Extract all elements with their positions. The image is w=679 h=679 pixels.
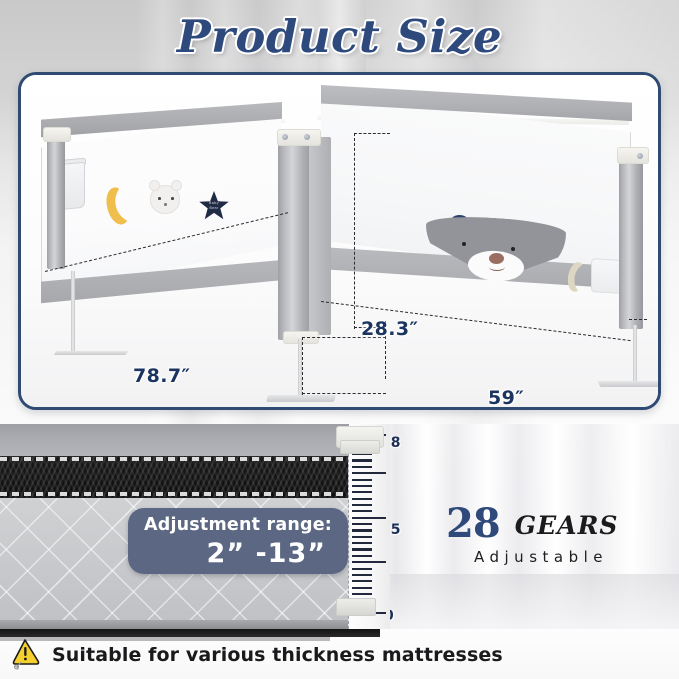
- ruler-tick: [352, 459, 372, 461]
- mattress-bottom-edge: [0, 620, 352, 629]
- support-leg-foot-right: [598, 381, 661, 387]
- dimension-line-height: [354, 133, 355, 329]
- bear-sticker-ear-right-icon: [171, 180, 182, 191]
- mattress-stitch-top: [0, 457, 352, 461]
- star-sticker-text: Baby Bear: [204, 201, 224, 211]
- ruler-tick: [352, 561, 386, 563]
- support-leg-foot-left: [54, 351, 129, 355]
- screw-icon: [282, 134, 288, 140]
- bed-rail-illustration: Baby Bear: [21, 75, 658, 407]
- dimension-tick-width-right: [629, 319, 647, 320]
- dimension-tick-height-top: [354, 133, 390, 134]
- ruler-tick: [352, 517, 386, 519]
- ruler-tick: [352, 548, 372, 550]
- mattress-top-surface: [0, 424, 352, 456]
- ruler-tick: [352, 504, 372, 506]
- dimension-label-width: 59″: [488, 387, 524, 409]
- ruler-tick: [352, 491, 372, 493]
- screw-icon: [637, 153, 643, 159]
- bracket-left-top: [43, 127, 71, 142]
- support-leg-right: [633, 325, 637, 383]
- ruler-tick: [352, 587, 372, 589]
- ruler-tick: [352, 510, 372, 512]
- footer-note-text: Suitable for various thickness mattresse…: [52, 644, 503, 666]
- ruler-tick: [352, 593, 372, 595]
- page-title: Product Size: [0, 10, 679, 63]
- mattress-stitch-bottom: [0, 492, 352, 496]
- infographic-canvas: Product Size B: [0, 0, 679, 679]
- rail-post-right: [619, 159, 643, 329]
- ruler-tick: [352, 466, 372, 468]
- product-diagram-panel: Baby Bear: [18, 72, 661, 410]
- ruler-tick: [352, 529, 372, 531]
- ruler-tick: [352, 472, 386, 474]
- gears-callout: 28 GEARS Adjustable: [446, 500, 636, 566]
- dimension-label-length: 78.7″: [133, 365, 190, 387]
- bracket-right-top: [617, 147, 649, 164]
- ruler-tick: [352, 542, 372, 544]
- gears-count: 28: [446, 500, 500, 547]
- ruler-tick: [352, 536, 372, 538]
- support-leg-left: [71, 271, 75, 353]
- ruler-tick: [352, 568, 372, 570]
- dimension-label-height: 28.3″: [361, 318, 418, 340]
- bear-face-eye-left-icon: [462, 242, 466, 246]
- dimension-tick-clearance-bottom: [302, 393, 386, 394]
- bear-face-smile-icon: [489, 263, 505, 271]
- footer-dark-band-2: [0, 637, 330, 641]
- footer-dark-band: [0, 629, 380, 637]
- adjustment-range-title: Adjustment range:: [128, 515, 348, 535]
- warning-triangle-icon: [10, 636, 44, 670]
- gears-subtitle: Adjustable: [446, 548, 636, 566]
- bear-sticker-nose-icon: [164, 203, 168, 206]
- bear-sticker-ear-left-icon: [149, 180, 160, 191]
- adjustment-range-value: 2” -13”: [128, 538, 348, 569]
- ruler-tick: [352, 574, 372, 576]
- rail-post-center-secondary: [309, 137, 331, 335]
- bear-sticker-eye-left-icon: [158, 197, 161, 200]
- ruler-tick: [352, 498, 372, 500]
- product-size-section: Product Size B: [0, 0, 679, 424]
- adjustment-range-badge: Adjustment range: 2” -13”: [128, 508, 348, 574]
- ruler-base-foot: [336, 598, 376, 616]
- screw-icon: [304, 134, 310, 140]
- storage-pocket-right: [591, 258, 621, 294]
- ruler-tick: [352, 485, 372, 487]
- bear-sticker-eye-right-icon: [171, 197, 174, 200]
- rail-post-left: [47, 137, 65, 269]
- ruler-tick: [352, 555, 372, 557]
- gears-label: GEARS: [515, 511, 619, 540]
- support-leg-foot-center: [266, 395, 336, 402]
- ruler-tick: [352, 479, 372, 481]
- bear-face-eye-right-icon: [511, 247, 515, 251]
- ruler-slider-lower: [340, 440, 380, 454]
- ruler-tick: [352, 580, 372, 582]
- rail-post-center: [278, 143, 312, 340]
- dimension-line-clearance-left: [302, 337, 303, 395]
- bracket-center-top: [277, 129, 321, 146]
- ruler-tick: [352, 523, 372, 525]
